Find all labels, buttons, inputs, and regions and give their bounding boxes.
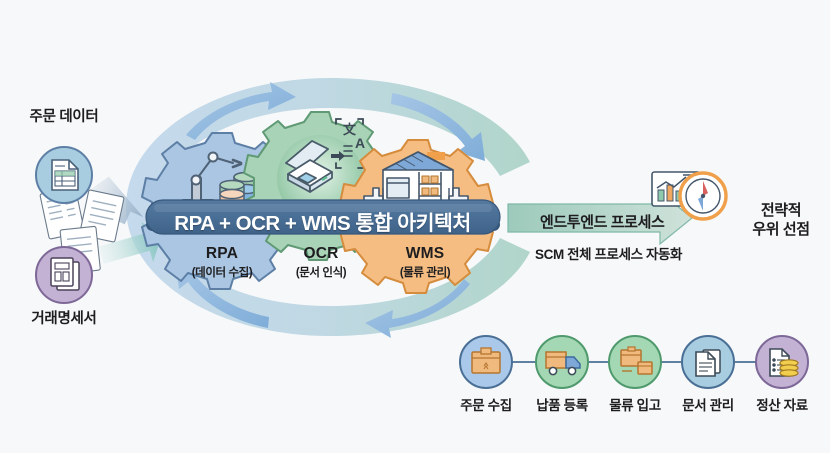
gear-sub-wms: (물류 관리): [366, 264, 484, 280]
diagram-svg: 文 A: [0, 0, 830, 453]
end-to-end-arrow-label: 엔드투엔드 프로세스: [540, 211, 664, 232]
diagram-canvas: 文 A: [0, 0, 830, 453]
process-step-icon-delivery-registration: [536, 336, 588, 388]
scm-automation-label: SCM 전체 프로세스 자동화: [535, 243, 682, 263]
architecture-banner: [146, 200, 500, 234]
strategic-result-line2: 우위 선점: [732, 221, 830, 240]
gear-label-wms: WMS (물류 관리): [366, 245, 484, 280]
gear-label-ocr: OCR (문서 인식): [262, 245, 380, 280]
process-step-label-settlement-data: 정산 자료: [732, 398, 830, 415]
gear-sub-ocr: (문서 인식): [262, 264, 380, 280]
process-step-icon-settlement-data: [756, 336, 808, 388]
gear-name-ocr: OCR: [262, 245, 380, 263]
gear-name-wms: WMS: [366, 245, 484, 263]
input-icon-order-data: [36, 147, 92, 203]
process-step-icon-order-collection: [460, 336, 512, 388]
input-label-transaction-statement: 거래명세서: [4, 310, 124, 328]
compass-icon: [680, 173, 726, 219]
input-label-order-data: 주문 데이터: [4, 108, 124, 126]
input-icon-transaction-statement: [36, 247, 92, 303]
svg-text:A: A: [355, 135, 365, 151]
process-step-icon-document-management: [682, 336, 734, 388]
process-step-icon-inbound-logistics: [609, 336, 661, 388]
strategic-result-line1: 전략적: [732, 202, 830, 221]
